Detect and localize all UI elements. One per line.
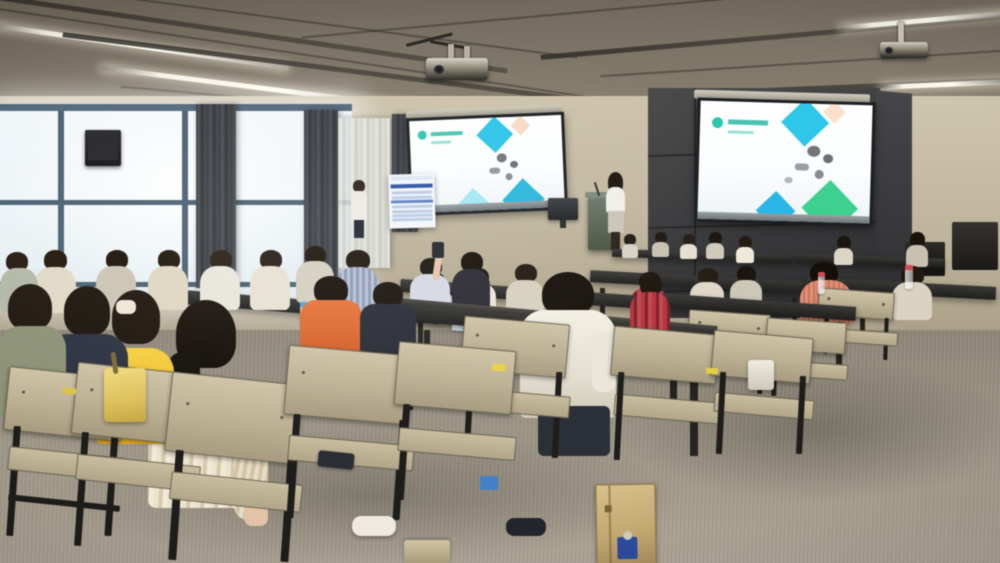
box-label-graphic bbox=[617, 537, 637, 559]
projection-screen-right bbox=[694, 98, 875, 227]
slide-left-diamond-peach bbox=[511, 116, 531, 136]
body bbox=[706, 243, 724, 259]
bag-on-floor bbox=[404, 540, 450, 563]
slide-right-photo-3 bbox=[795, 163, 809, 170]
poster-board-line bbox=[392, 195, 432, 199]
screen-right-slide bbox=[697, 101, 872, 224]
chair-tag bbox=[706, 367, 718, 374]
water-bottle bbox=[905, 265, 913, 289]
shoe bbox=[352, 516, 396, 536]
slide-left-photo-1 bbox=[497, 153, 507, 162]
slide-right-photo-5 bbox=[784, 177, 792, 183]
standing-person-body bbox=[351, 191, 367, 221]
projector-left bbox=[424, 38, 496, 84]
body bbox=[622, 244, 638, 258]
audience-member bbox=[834, 236, 853, 264]
water-bottle bbox=[818, 272, 825, 294]
presenter-top bbox=[606, 187, 625, 213]
chair-tag bbox=[492, 363, 507, 371]
cardboard-box bbox=[595, 483, 656, 563]
body bbox=[652, 242, 669, 257]
slide-left-logo-icon bbox=[418, 131, 427, 140]
confidence-monitor-stand bbox=[560, 220, 566, 228]
handbag bbox=[104, 368, 146, 422]
poster-board-line bbox=[392, 209, 432, 213]
slide-right-photo-4 bbox=[815, 170, 824, 179]
body bbox=[680, 244, 697, 259]
bottle-cap bbox=[818, 272, 825, 277]
presenter-skirt bbox=[608, 211, 624, 233]
audience-member bbox=[680, 234, 697, 258]
chair-back bbox=[164, 371, 304, 464]
audience-member bbox=[630, 276, 670, 332]
poster-board-header bbox=[390, 176, 432, 181]
box-tape bbox=[605, 505, 612, 512]
shoe bbox=[506, 518, 546, 536]
slide-right-diamond-cyan bbox=[781, 101, 829, 147]
presenter-legs bbox=[611, 232, 620, 250]
av-equipment-right bbox=[952, 222, 998, 270]
item-on-floor bbox=[480, 476, 498, 490]
audience-member bbox=[736, 236, 754, 262]
body bbox=[736, 247, 754, 263]
poster-board-line bbox=[392, 205, 432, 209]
hair bbox=[8, 284, 52, 330]
chair-back bbox=[393, 341, 516, 415]
poster-board-title-bar bbox=[391, 183, 433, 188]
standing-person-legs bbox=[354, 220, 364, 238]
slide-right-logo-text bbox=[728, 119, 768, 125]
slide-left-logo-text bbox=[431, 131, 463, 136]
slide-left-photo-4 bbox=[505, 173, 512, 180]
poster-board-line bbox=[392, 191, 432, 195]
slide-right-photo-2 bbox=[823, 154, 833, 163]
poster-board-subbar bbox=[391, 199, 432, 203]
poster-board bbox=[388, 173, 435, 228]
poster-board-line bbox=[393, 218, 433, 222]
lecture-hall-photo bbox=[0, 0, 1000, 563]
audience-member bbox=[652, 232, 669, 256]
audience-member bbox=[452, 252, 490, 308]
confidence-monitor bbox=[548, 198, 578, 220]
slide-right-photo-1 bbox=[807, 146, 820, 157]
hair bbox=[64, 286, 110, 336]
audience-member bbox=[906, 232, 928, 266]
slide-left-subtitle bbox=[431, 140, 451, 144]
slide-left-photo-2 bbox=[510, 161, 518, 168]
audience-member bbox=[706, 232, 724, 258]
slide-left-photo-3 bbox=[489, 167, 500, 173]
wall-speaker-left bbox=[85, 130, 121, 166]
bag-on-floor bbox=[748, 360, 774, 390]
bottle-cap bbox=[905, 265, 913, 270]
phone bbox=[432, 242, 444, 258]
audience-member bbox=[622, 234, 638, 256]
slide-left-diamond-cyan bbox=[476, 116, 513, 153]
poster-board-line bbox=[393, 213, 433, 217]
chair-back bbox=[610, 325, 720, 384]
slide-right-subtitle bbox=[728, 130, 754, 134]
standing-person bbox=[349, 180, 369, 238]
projector-right bbox=[880, 22, 932, 66]
body bbox=[906, 245, 928, 267]
slide-right-logo-icon bbox=[712, 117, 723, 128]
